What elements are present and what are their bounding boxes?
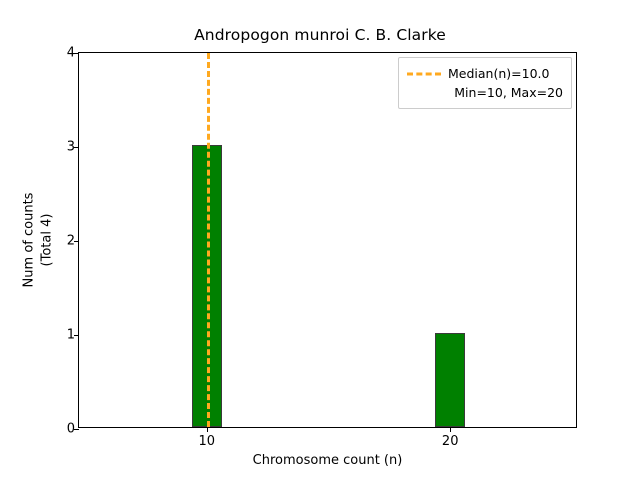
legend-entry-median: Median(n)=10.0 <box>407 64 563 83</box>
y-tick-label: 0 <box>67 422 75 437</box>
y-tick-label: 1 <box>67 328 75 343</box>
y-tick-label: 3 <box>67 140 75 155</box>
legend: Median(n)=10.0 Min=10, Max=20 <box>398 57 572 109</box>
bar <box>435 333 465 427</box>
legend-label-median: Median(n)=10.0 <box>448 66 549 81</box>
page-title: Andropogon munroi C. B. Clarke <box>0 26 640 44</box>
x-tick-mark <box>207 427 208 432</box>
x-tick-label: 10 <box>199 434 216 449</box>
legend-label-minmax: Min=10, Max=20 <box>448 85 563 100</box>
plot-inner: 012341020 <box>79 53 576 427</box>
y-tick-label: 2 <box>67 234 75 249</box>
dashed-line-icon <box>407 69 441 79</box>
legend-entry-minmax: Min=10, Max=20 <box>407 83 563 102</box>
x-tick-label: 20 <box>442 434 459 449</box>
x-tick-mark <box>450 427 451 432</box>
chart-figure: Andropogon munroi C. B. Clarke 012341020… <box>0 0 640 480</box>
y-tick-label: 4 <box>67 46 75 61</box>
y-axis-label-line1: Num of counts <box>20 193 38 288</box>
y-axis-label-line2: (Total 4) <box>38 193 56 288</box>
median-line <box>207 53 210 427</box>
x-axis-label: Chromosome count (n) <box>78 453 577 468</box>
